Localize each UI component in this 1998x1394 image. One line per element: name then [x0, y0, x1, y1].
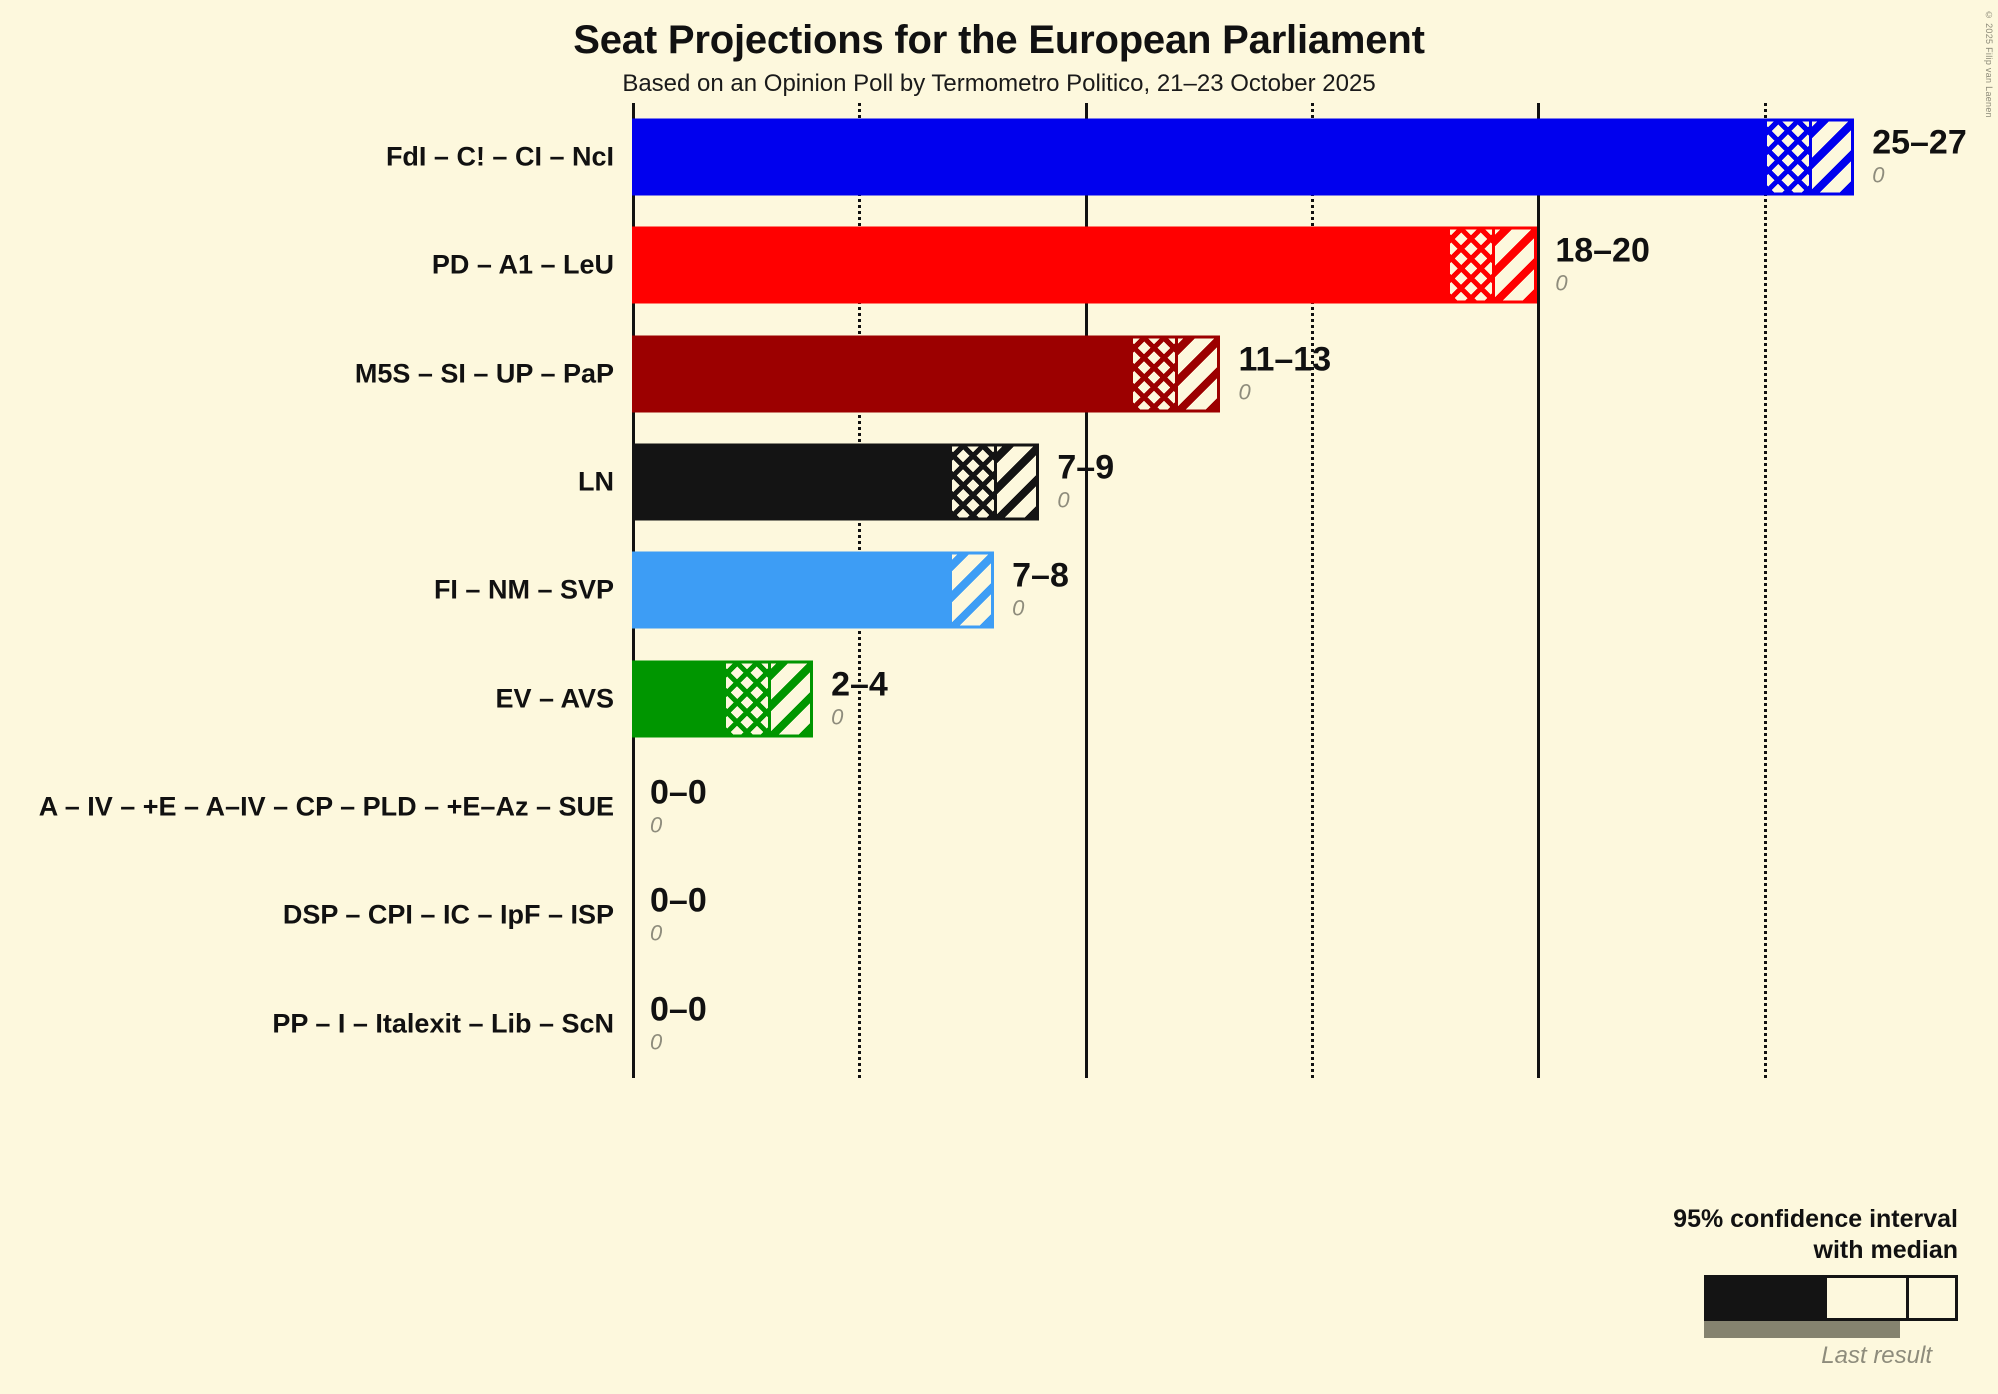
bar-value-labels: 11–130 — [1238, 342, 1331, 406]
legend-solid-segment — [1704, 1275, 1824, 1321]
confidence-interval-bar — [632, 660, 813, 737]
bar-value-labels: 7–80 — [1012, 559, 1069, 623]
bar-value-labels: 2–40 — [831, 667, 888, 731]
bar-value-range: 25–27 — [1872, 125, 1967, 159]
bar-row-label: PP – I – Italexit – Lib – ScN — [0, 1008, 614, 1039]
bar-segment-diagonal — [1175, 335, 1220, 412]
bar-row-label: FI – NM – SVP — [0, 575, 614, 606]
bar-row: DSP – CPI – IC – IpF – ISP0–00 — [0, 861, 1998, 969]
bar-value-range: 11–13 — [1238, 342, 1331, 376]
bar-last-result-value: 0 — [831, 703, 888, 731]
bar-value-range: 18–20 — [1555, 234, 1650, 268]
bar-row-label: A – IV – +E – A–IV – CP – PLD – +E–Az – … — [0, 792, 614, 823]
bar-last-result-value: 0 — [650, 811, 707, 839]
bar-row-label: FdI – C! – CI – NcI — [0, 142, 614, 173]
bar-value-labels: 0–00 — [650, 884, 707, 948]
bar-segment-crosshatch — [1764, 119, 1809, 196]
bar-segment-crosshatch — [949, 444, 994, 521]
chart-legend: 95% confidence interval with median Last… — [1478, 1204, 1958, 1370]
bar-row-label: DSP – CPI – IC – IpF – ISP — [0, 900, 614, 931]
legend-last-result-bar — [1704, 1321, 1900, 1338]
bar-segment-solid — [632, 660, 723, 737]
bar-segment-solid — [632, 227, 1447, 304]
bar-segment-diagonal — [994, 444, 1039, 521]
bar-value-range: 7–8 — [1012, 559, 1069, 593]
bar-row: A – IV – +E – A–IV – CP – PLD – +E–Az – … — [0, 753, 1998, 861]
bar-value-labels: 25–270 — [1872, 125, 1967, 189]
confidence-interval-bar — [632, 335, 1220, 412]
bar-last-result-value: 0 — [1238, 378, 1331, 406]
confidence-interval-bar — [632, 227, 1537, 304]
bar-segment-diagonal — [1809, 119, 1854, 196]
bar-value-labels: 18–200 — [1555, 234, 1650, 298]
bar-value-range: 7–9 — [1057, 450, 1114, 484]
legend-ci-swatch — [1478, 1275, 1958, 1321]
bar-segment-diagonal — [1492, 227, 1537, 304]
chart-subtitle: Based on an Opinion Poll by Termometro P… — [0, 70, 1998, 98]
legend-bar — [1704, 1275, 1958, 1321]
confidence-interval-bar — [632, 444, 1039, 521]
bar-last-result-value: 0 — [1555, 270, 1650, 298]
bar-segment-crosshatch — [1447, 227, 1492, 304]
plot-area: FdI – C! – CI – NcI25–270PD – A1 – LeU18… — [0, 103, 1998, 1078]
bar-row: PP – I – Italexit – Lib – ScN0–00 — [0, 970, 1998, 1078]
legend-ci-line1: 95% confidence interval — [1478, 1204, 1958, 1235]
bar-value-labels: 7–90 — [1057, 450, 1114, 514]
legend-ci-line2: with median — [1478, 1235, 1958, 1266]
bar-row: LN7–90 — [0, 428, 1998, 536]
legend-ci-title: 95% confidence interval with median — [1478, 1204, 1958, 1265]
bar-segment-solid — [632, 119, 1764, 196]
bar-segment-solid — [632, 444, 949, 521]
bar-row-label: EV – AVS — [0, 683, 614, 714]
bar-row: FdI – C! – CI – NcI25–270 — [0, 103, 1998, 211]
bar-segment-solid — [632, 335, 1130, 412]
bar-value-labels: 0–00 — [650, 992, 707, 1056]
bar-row: PD – A1 – LeU18–200 — [0, 211, 1998, 319]
legend-last-result-label: Last result — [1478, 1342, 1958, 1370]
copyright-notice: © 2025 Filip van Laenen — [1984, 10, 1994, 118]
bar-row: M5S – SI – UP – PaP11–130 — [0, 320, 1998, 428]
chart-title: Seat Projections for the European Parlia… — [0, 18, 1998, 63]
bar-last-result-value: 0 — [650, 920, 707, 948]
legend-last-result-swatch — [1478, 1321, 1958, 1338]
bar-last-result-value: 0 — [1872, 161, 1967, 189]
bar-value-labels: 0–00 — [650, 775, 707, 839]
bar-row-label: PD – A1 – LeU — [0, 250, 614, 281]
bar-segment-solid — [632, 552, 949, 629]
bar-row: EV – AVS2–40 — [0, 645, 1998, 753]
bar-value-range: 2–4 — [831, 667, 888, 701]
confidence-interval-bar — [632, 552, 994, 629]
bar-value-range: 0–0 — [650, 992, 707, 1026]
bar-last-result-value: 0 — [1012, 595, 1069, 623]
bar-segment-crosshatch — [1130, 335, 1175, 412]
bar-value-range: 0–0 — [650, 884, 707, 918]
bar-value-range: 0–0 — [650, 775, 707, 809]
bar-segment-crosshatch — [723, 660, 768, 737]
confidence-interval-bar — [632, 119, 1854, 196]
bar-row-label: M5S – SI – UP – PaP — [0, 358, 614, 389]
legend-diagonal-segment — [1906, 1275, 1958, 1321]
bar-segment-diagonal — [949, 552, 994, 629]
bar-segment-diagonal — [768, 660, 813, 737]
legend-crosshatch-segment — [1824, 1275, 1906, 1321]
bar-row-label: LN — [0, 467, 614, 498]
bar-row: FI – NM – SVP7–80 — [0, 536, 1998, 644]
bar-last-result-value: 0 — [1057, 486, 1114, 514]
bar-last-result-value: 0 — [650, 1028, 707, 1056]
chart-root: Seat Projections for the European Parlia… — [0, 0, 1998, 1394]
